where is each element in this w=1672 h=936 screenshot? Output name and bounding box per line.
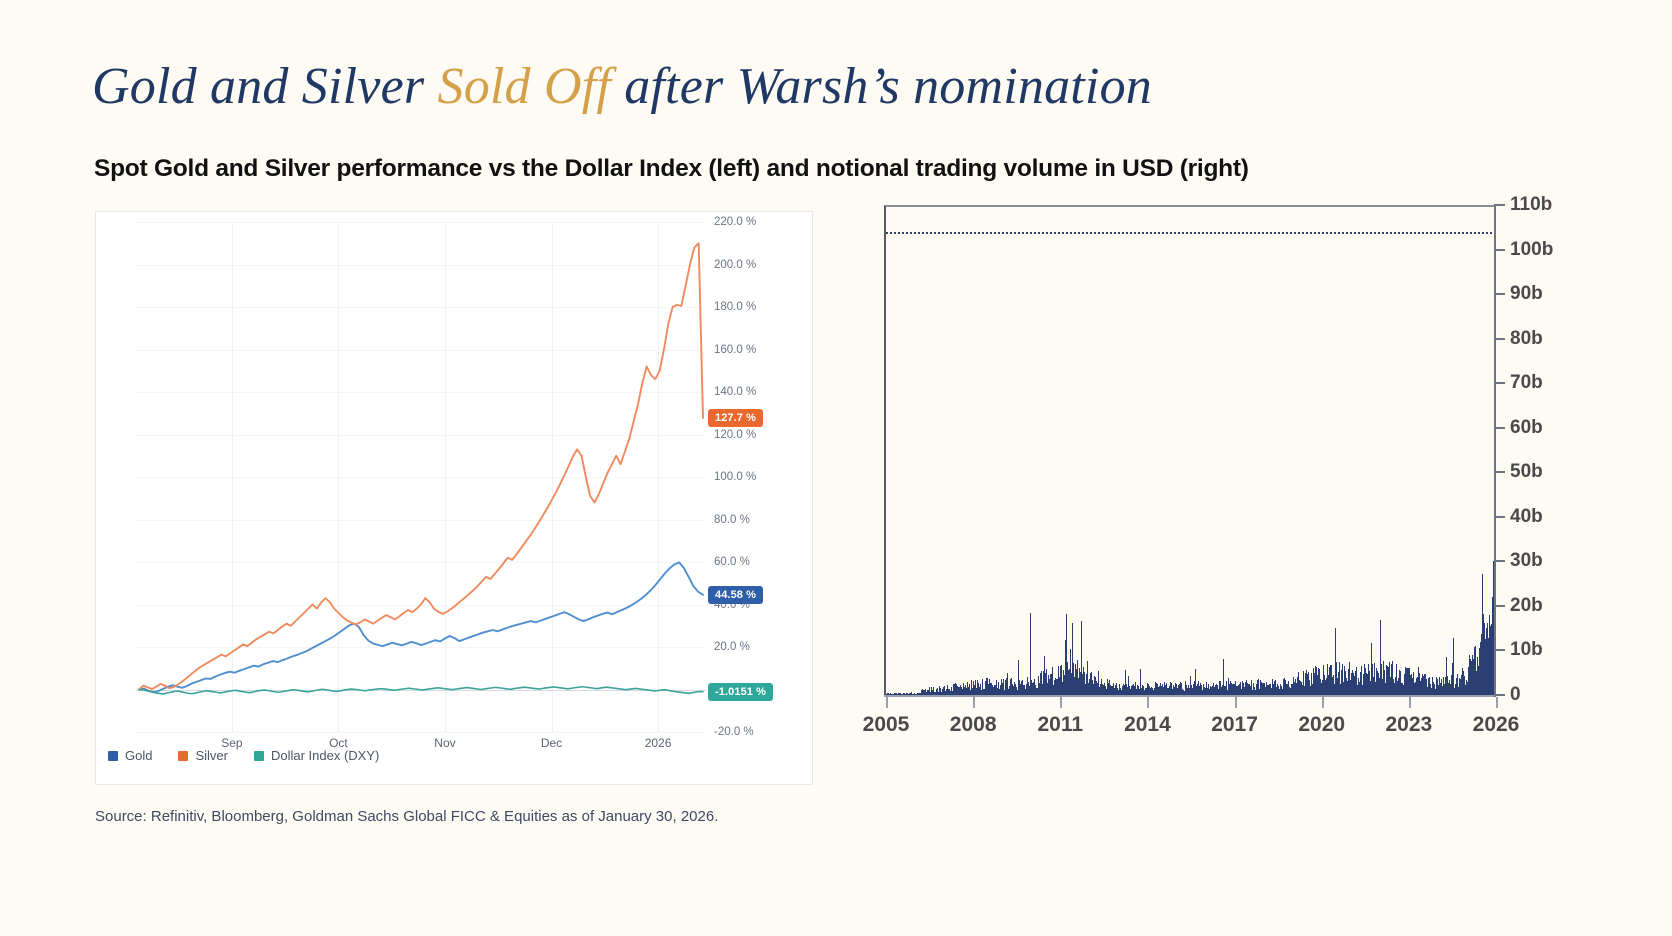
volume-baseline bbox=[884, 695, 1496, 697]
y-tick-mark bbox=[1494, 249, 1505, 251]
y-tick-label: 110b bbox=[1510, 194, 1552, 216]
performance-plot-area bbox=[136, 222, 706, 732]
performance-series-svg bbox=[136, 222, 706, 732]
y-tick-label: 140.0 % bbox=[714, 386, 756, 398]
y-tick-label: 80.0 % bbox=[714, 514, 750, 526]
performance-legend: GoldSilverDollar Index (DXY) bbox=[108, 748, 379, 763]
legend-label: Gold bbox=[125, 748, 152, 763]
series-line-gold bbox=[139, 562, 703, 692]
volume-chart-panel: 010b20b30b40b50b60b70b80b90b100b110b 200… bbox=[862, 205, 1597, 785]
y-tick-mark bbox=[1494, 382, 1505, 384]
y-tick-mark bbox=[1494, 204, 1505, 206]
volume-bars bbox=[886, 205, 1496, 695]
performance-y-axis: 220.0 %200.0 %180.0 %160.0 %140.0 %120.0… bbox=[708, 222, 803, 732]
x-tick-label: 2026 bbox=[1473, 713, 1520, 737]
y-tick-mark bbox=[1494, 649, 1505, 651]
x-tick-label: 2026 bbox=[645, 736, 672, 750]
y-tick-label: 30b bbox=[1510, 550, 1543, 572]
x-tick-mark bbox=[1060, 697, 1062, 708]
y-tick-mark bbox=[1494, 293, 1505, 295]
y-tick-label: 60.0 % bbox=[714, 556, 750, 568]
legend-swatch-icon bbox=[254, 751, 264, 761]
y-tick-label: 80b bbox=[1510, 328, 1543, 350]
page-title-accent: Sold Off bbox=[438, 58, 612, 115]
x-tick-label: 2008 bbox=[950, 713, 997, 737]
y-tick-label: 180.0 % bbox=[714, 301, 756, 313]
y-tick-label: -20.0 % bbox=[714, 726, 754, 738]
y-tick-label: 60b bbox=[1510, 417, 1543, 439]
legend-label: Dollar Index (DXY) bbox=[271, 748, 379, 763]
x-tick-label: 2017 bbox=[1211, 713, 1258, 737]
silver-value-badge: 127.7 % bbox=[708, 409, 763, 427]
y-tick-mark bbox=[1494, 605, 1505, 607]
x-tick-mark bbox=[1322, 697, 1324, 708]
page-title-part2: after Warsh’s nomination bbox=[611, 58, 1152, 115]
page-title: Gold and Silver Sold Off after Warsh’s n… bbox=[92, 58, 1152, 116]
y-tick-label: 160.0 % bbox=[714, 344, 756, 356]
gold-value-badge: 44.58 % bbox=[708, 586, 763, 604]
y-tick-label: 100b bbox=[1510, 239, 1553, 261]
dxy-value-badge: -1.0151 % bbox=[708, 683, 773, 701]
x-tick-mark bbox=[1147, 697, 1149, 708]
x-tick-mark bbox=[1235, 697, 1237, 708]
y-tick-label: 200.0 % bbox=[714, 259, 756, 271]
performance-chart-panel: 220.0 %200.0 %180.0 %160.0 %140.0 %120.0… bbox=[95, 211, 813, 785]
y-tick-label: 90b bbox=[1510, 283, 1543, 305]
legend-item[interactable]: Gold bbox=[108, 748, 152, 763]
x-tick-label: 2020 bbox=[1298, 713, 1345, 737]
grid-line-horizontal bbox=[136, 732, 706, 733]
y-tick-mark bbox=[1494, 338, 1505, 340]
x-tick-mark bbox=[1496, 697, 1498, 708]
legend-swatch-icon bbox=[178, 751, 188, 761]
y-tick-mark bbox=[1494, 694, 1505, 696]
page-subtitle: Spot Gold and Silver performance vs the … bbox=[94, 155, 1249, 183]
legend-item[interactable]: Dollar Index (DXY) bbox=[254, 748, 379, 763]
x-tick-label: Dec bbox=[541, 736, 562, 750]
legend-label: Silver bbox=[195, 748, 228, 763]
y-tick-mark bbox=[1494, 427, 1505, 429]
page-title-part1: Gold and Silver bbox=[92, 58, 438, 115]
source-note: Source: Refinitiv, Bloomberg, Goldman Sa… bbox=[95, 808, 718, 825]
legend-swatch-icon bbox=[108, 751, 118, 761]
y-tick-label: 100.0 % bbox=[714, 471, 756, 483]
volume-y-axis-line bbox=[1494, 205, 1496, 697]
legend-item[interactable]: Silver bbox=[178, 748, 228, 763]
y-tick-label: 120.0 % bbox=[714, 429, 756, 441]
x-tick-mark bbox=[1409, 697, 1411, 708]
x-tick-mark bbox=[886, 697, 888, 708]
y-tick-label: 70b bbox=[1510, 372, 1543, 394]
y-tick-label: 50b bbox=[1510, 461, 1543, 483]
y-tick-label: 20b bbox=[1510, 595, 1543, 617]
y-tick-mark bbox=[1494, 471, 1505, 473]
x-tick-label: 2023 bbox=[1385, 713, 1432, 737]
series-line-silver bbox=[139, 243, 703, 689]
y-tick-label: 20.0 % bbox=[714, 641, 750, 653]
y-tick-mark bbox=[1494, 516, 1505, 518]
y-tick-label: 0 bbox=[1510, 684, 1521, 706]
y-tick-mark bbox=[1494, 560, 1505, 562]
x-tick-label: Nov bbox=[434, 736, 455, 750]
y-tick-label: 220.0 % bbox=[714, 216, 756, 228]
x-tick-label: 2011 bbox=[1038, 713, 1084, 737]
x-tick-label: 2005 bbox=[863, 713, 910, 737]
volume-reference-line bbox=[886, 232, 1496, 234]
y-tick-label: 40b bbox=[1510, 506, 1543, 528]
x-tick-mark bbox=[973, 697, 975, 708]
y-tick-label: 10b bbox=[1510, 639, 1543, 661]
x-tick-label: 2014 bbox=[1124, 713, 1171, 737]
series-line-dollar-index-dxy bbox=[139, 687, 703, 694]
